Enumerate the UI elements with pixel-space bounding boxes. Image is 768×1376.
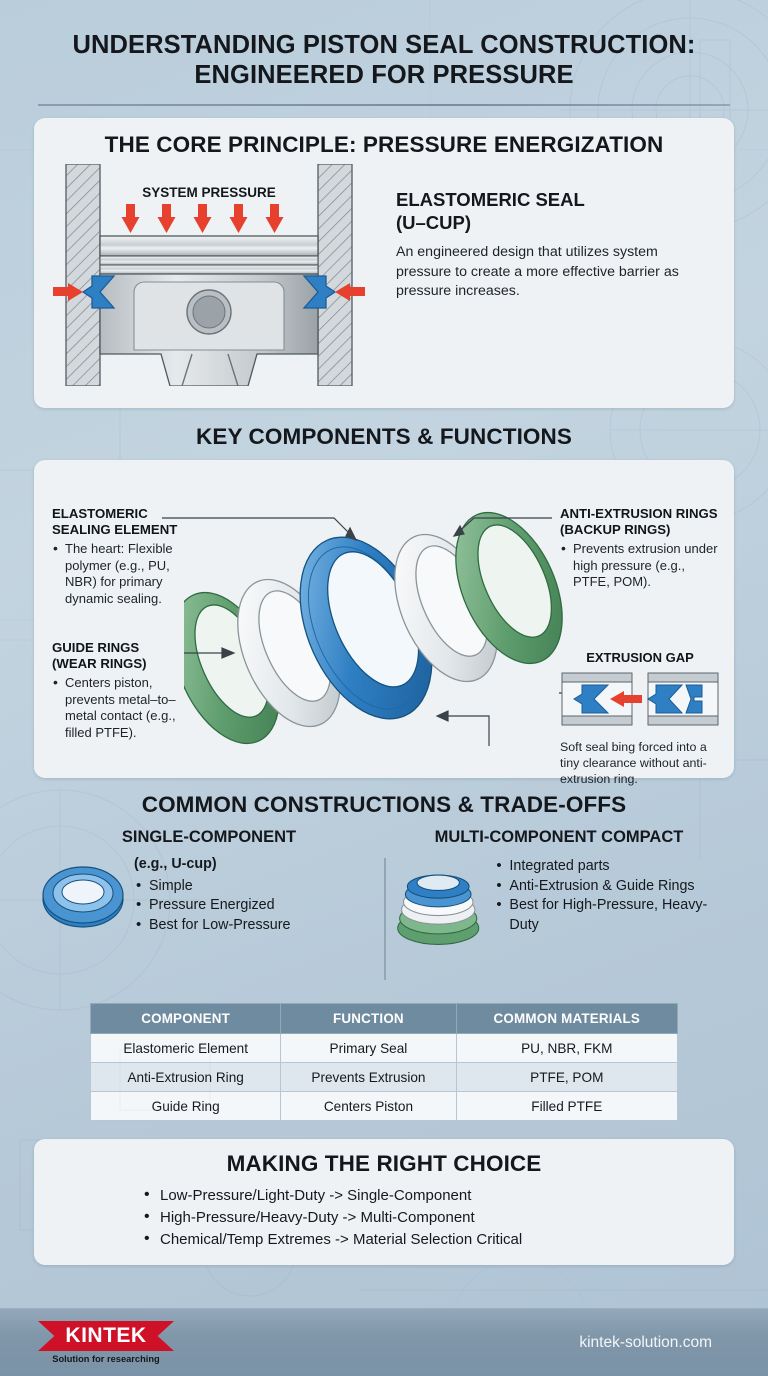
extrusion-gap-caption: Soft seal bing forced into a tiny cleara… (560, 739, 720, 787)
callout-anti-extrusion-heading-line2: (BACKUP RINGS) (560, 522, 670, 537)
kintek-logo[interactable]: KINTEK Solution for researching (38, 1321, 174, 1364)
table-cell: PTFE, POM (456, 1063, 677, 1092)
table-cell: Primary Seal (281, 1034, 456, 1063)
table-column-header: COMPONENT (91, 1004, 281, 1034)
list-item: Simple (134, 877, 290, 897)
materials-table: COMPONENT FUNCTION COMMON MATERIALS Elas… (90, 1003, 678, 1121)
u-cup-ring-icon (43, 867, 123, 927)
list-item: Best for High-Pressure, Heavy-Duty (494, 896, 728, 935)
callout-guide-rings-bullet: Centers piston, prevents metal–to–metal … (52, 675, 204, 741)
multi-component-column: MULTI-COMPONENT COMPACT Integrated parts (384, 828, 734, 993)
extrusion-gap-title: EXTRUSION GAP (560, 650, 720, 665)
page-title-line2: ENGINEERED FOR PRESSURE (194, 61, 573, 89)
extrusion-gap-figure (560, 669, 720, 729)
stacked-rings-icon (398, 875, 479, 944)
callout-elastomeric-heading-line1: ELASTOMERIC (52, 506, 148, 521)
pressure-arrows-down (122, 204, 284, 233)
single-component-bullets: Simple Pressure Energized Best for Low-P… (134, 875, 290, 936)
website-url[interactable]: kintek-solution.com (579, 1334, 712, 1352)
elastomeric-seal-heading-line1: ELASTOMERIC SEAL (396, 189, 585, 210)
single-component-heading: SINGLE-COMPONENT (40, 828, 378, 847)
table-row: Elastomeric Element Primary Seal PU, NBR… (91, 1034, 678, 1063)
elastomeric-seal-heading: ELASTOMERIC SEAL (U–CUP) (396, 188, 698, 234)
core-principle-panel: THE CORE PRINCIPLE: PRESSURE ENERGIZATIO… (34, 118, 734, 408)
infographic-page: UNDERSTANDING PISTON SEAL CONSTRUCTION: … (0, 0, 768, 1376)
key-components-panel: ELASTOMERIC SEALING ELEMENT The heart: F… (34, 460, 734, 778)
list-item: Anti-Extrusion & Guide Rings (494, 877, 728, 897)
single-component-seal-figure (40, 855, 126, 935)
multi-component-stack-figure (390, 855, 486, 951)
common-constructions-section: SINGLE-COMPONENT (e.g., U-cup) Simple Pr… (34, 828, 734, 993)
piston-cross-section-figure: SYSTEM PRESSURE (52, 164, 382, 386)
table-row: Guide Ring Centers Piston Filled PTFE (91, 1092, 678, 1121)
making-right-choice-title: MAKING THE RIGHT CHOICE (34, 1151, 734, 1177)
table-cell: Anti-Extrusion Ring (91, 1063, 281, 1092)
callout-anti-extrusion-heading-line1: ANTI-EXTRUSION RINGS (560, 506, 718, 521)
extrusion-gap-callout: EXTRUSION GAP (560, 650, 720, 787)
list-item: Integrated parts (494, 857, 728, 877)
materials-table-wrap: COMPONENT FUNCTION COMMON MATERIALS Elas… (90, 1003, 678, 1121)
table-column-header: FUNCTION (281, 1004, 456, 1034)
table-column-header: COMMON MATERIALS (456, 1004, 677, 1034)
callout-elastomeric-sealing-element: ELASTOMERIC SEALING ELEMENT The heart: F… (52, 506, 202, 607)
column-divider (384, 858, 386, 980)
key-components-title: KEY COMPONENTS & FUNCTIONS (0, 424, 768, 450)
making-right-choice-bullets: Low-Pressure/Light-Duty -> Single-Compon… (34, 1185, 734, 1251)
multi-component-bullets: Integrated parts Anti-Extrusion & Guide … (494, 855, 728, 935)
logo-banner: KINTEK (38, 1321, 174, 1351)
header-divider (38, 104, 730, 106)
table-cell: Guide Ring (91, 1092, 281, 1121)
common-constructions-title: COMMON CONSTRUCTIONS & TRADE-OFFS (0, 792, 768, 818)
list-item: Low-Pressure/Light-Duty -> Single-Compon… (144, 1185, 734, 1207)
core-principle-title: THE CORE PRINCIPLE: PRESSURE ENERGIZATIO… (34, 132, 734, 158)
callout-guide-rings-heading-line1: GUIDE RINGS (52, 640, 139, 655)
page-title: UNDERSTANDING PISTON SEAL CONSTRUCTION: … (34, 30, 734, 90)
table-cell: PU, NBR, FKM (456, 1034, 677, 1063)
list-item: High-Pressure/Heavy-Duty -> Multi-Compon… (144, 1207, 734, 1229)
page-title-line1: UNDERSTANDING PISTON SEAL CONSTRUCTION: (72, 31, 695, 59)
callout-elastomeric-bullet: The heart: Flexible polymer (e.g., PU, N… (52, 541, 202, 607)
list-item: Best for Low-Pressure (134, 916, 290, 936)
making-right-choice-panel: MAKING THE RIGHT CHOICE Low-Pressure/Lig… (34, 1139, 734, 1265)
page-header: UNDERSTANDING PISTON SEAL CONSTRUCTION: … (0, 0, 768, 106)
table-header-row: COMPONENT FUNCTION COMMON MATERIALS (91, 1004, 678, 1034)
multi-component-heading: MULTI-COMPONENT COMPACT (390, 828, 728, 847)
list-item: Pressure Energized (134, 896, 290, 916)
table-row: Anti-Extrusion Ring Prevents Extrusion P… (91, 1063, 678, 1092)
elastomeric-seal-description: An engineered design that utilizes syste… (396, 243, 698, 302)
table-cell: Elastomeric Element (91, 1034, 281, 1063)
callout-anti-extrusion-bullet: Prevents extrusion under high pressure (… (560, 541, 718, 591)
core-principle-text: ELASTOMERIC SEAL (U–CUP) An engineered d… (382, 164, 716, 386)
elastomeric-seal-heading-line2: (U–CUP) (396, 212, 471, 233)
system-pressure-label: SYSTEM PRESSURE (142, 185, 276, 200)
single-component-column: SINGLE-COMPONENT (e.g., U-cup) Simple Pr… (34, 828, 384, 993)
table-cell: Centers Piston (281, 1092, 456, 1121)
logo-text: KINTEK (65, 1324, 146, 1348)
table-cell: Filled PTFE (456, 1092, 677, 1121)
callout-guide-rings: GUIDE RINGS (WEAR RINGS) Centers piston,… (52, 640, 204, 741)
callout-guide-rings-heading-line2: (WEAR RINGS) (52, 656, 147, 671)
page-footer: KINTEK Solution for researching kintek-s… (0, 1308, 768, 1376)
logo-tagline: Solution for researching (38, 1354, 174, 1364)
list-item: Chemical/Temp Extremes -> Material Selec… (144, 1229, 734, 1251)
callout-anti-extrusion-rings: ANTI-EXTRUSION RINGS (BACKUP RINGS) Prev… (560, 506, 718, 591)
callout-elastomeric-heading-line2: SEALING ELEMENT (52, 522, 177, 537)
table-cell: Prevents Extrusion (281, 1063, 456, 1092)
single-component-note: (e.g., U-cup) (134, 855, 290, 875)
